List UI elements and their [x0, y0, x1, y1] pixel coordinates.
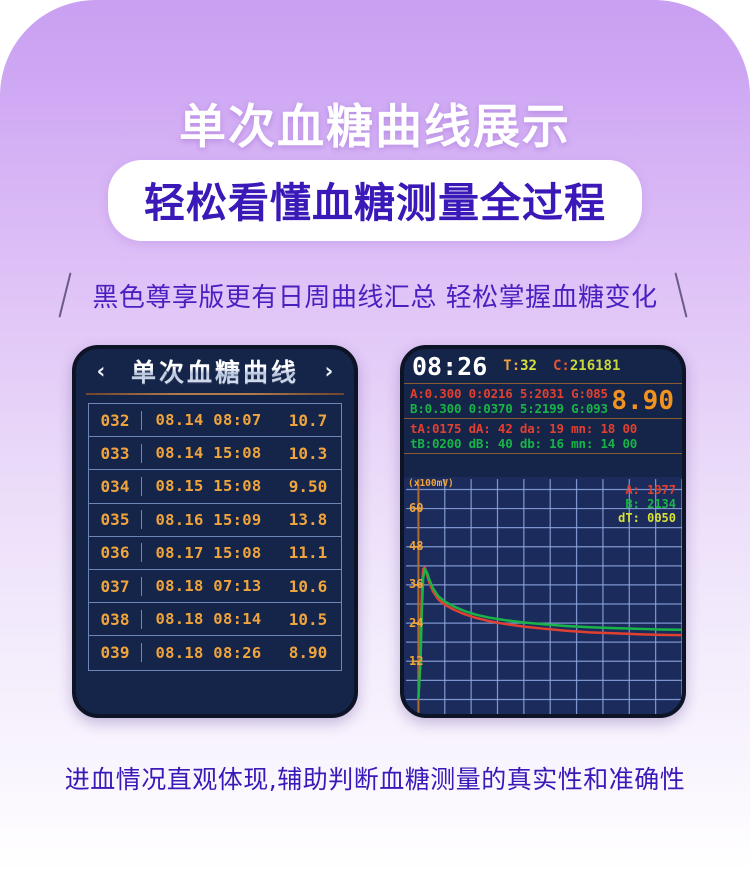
glucose-value: 8.90 [611, 388, 674, 414]
row-datetime: 08.14 08:07 [142, 411, 275, 429]
legend-value: 1977 [647, 483, 676, 497]
subtitle-pill: 轻松看懂血糖测量全过程 [108, 160, 642, 241]
row-value: 10.7 [275, 411, 341, 430]
table-row[interactable]: 03208.14 08:0710.7 [89, 404, 341, 437]
row-datetime: 08.18 08:14 [142, 610, 275, 628]
records-navbar: ‹ 单次血糖曲线 › [76, 349, 354, 393]
row-datetime: 08.14 15:08 [142, 444, 275, 462]
table-row[interactable]: 03508.16 15:0913.8 [89, 504, 341, 537]
y-tick-label: 48 [409, 539, 423, 553]
row-datetime: 08.18 07:13 [142, 577, 275, 595]
row-id: 032 [89, 411, 142, 430]
row-id: 036 [89, 543, 142, 562]
legend-item-a: A: 1977 [618, 483, 676, 497]
clock-label: 08:26 [412, 354, 487, 379]
promo-page: 单次血糖曲线展示 轻松看懂血糖测量全过程 黑色尊享版更有日周曲线汇总 轻松掌握血… [0, 0, 750, 870]
right-slash-icon [672, 272, 694, 318]
tagline-row: 黑色尊享版更有日周曲线汇总 轻松掌握血糖变化 [0, 272, 750, 318]
row-datetime: 08.17 15:08 [142, 544, 275, 562]
counter-readout: C:216181 [553, 358, 620, 374]
device-screen-records: ‹ 单次血糖曲线 › 03208.14 08:0710.703308.14 15… [72, 345, 358, 718]
channel-band: A:0.300 0:0216 5:2031 G:085 B:0.300 0:03… [404, 383, 682, 419]
row-value: 10.3 [275, 444, 341, 463]
records-table: 03208.14 08:0710.703308.14 15:0810.30340… [88, 403, 342, 671]
row-id: 034 [89, 477, 142, 496]
navbar-divider [86, 393, 344, 395]
legend-key: A: [625, 483, 639, 497]
row-datetime: 08.18 08:26 [142, 644, 275, 662]
table-row[interactable]: 03408.15 15:089.50 [89, 470, 341, 503]
legend-key: dT: [618, 511, 640, 525]
row-value: 11.1 [275, 543, 341, 562]
row-id: 037 [89, 577, 142, 596]
row-value: 13.8 [275, 510, 341, 529]
plot-legend: A: 1977B: 2134dT: 0050 [618, 483, 676, 525]
row-value: 9.50 [275, 477, 341, 496]
table-row[interactable]: 03808.18 08:1410.5 [89, 603, 341, 636]
row-datetime: 08.15 15:08 [142, 477, 275, 495]
row-id: 035 [89, 510, 142, 529]
table-row[interactable]: 03908.18 08:268.90 [89, 636, 341, 669]
y-tick-label: 36 [409, 577, 423, 591]
row-value: 8.90 [275, 643, 341, 662]
chevron-left-icon[interactable]: ‹ [90, 361, 112, 382]
left-slash-icon [56, 272, 78, 318]
row-id: 038 [89, 610, 142, 629]
timing-a-line: tA:0175 dA: 42 da: 19 mn: 18 00 [410, 421, 682, 436]
row-id: 039 [89, 643, 142, 662]
table-row[interactable]: 03308.14 15:0810.3 [89, 437, 341, 470]
timing-b-line: tB:0200 dB: 40 db: 16 mn: 14 00 [410, 436, 682, 451]
temperature-readout: T:32 [503, 358, 537, 374]
y-tick-label: 60 [409, 501, 423, 515]
row-datetime: 08.16 15:09 [142, 511, 275, 529]
legend-value: 2134 [647, 497, 676, 511]
page-title: 单次血糖曲线展示 [0, 88, 750, 157]
table-row[interactable]: 03608.17 15:0811.1 [89, 537, 341, 570]
device-screen-graph: 08:26 T:32 C:216181 A:0.300 0:0216 5:203… [400, 345, 686, 718]
legend-value: 0050 [647, 511, 676, 525]
row-value: 10.5 [275, 610, 341, 629]
curve-plot: (x100mV) A: 1977B: 2134dT: 0050 60483624… [404, 477, 682, 714]
y-tick-label: 12 [409, 654, 423, 668]
y-tick-label: 24 [409, 616, 423, 630]
chevron-right-icon[interactable]: › [318, 361, 340, 382]
footer-caption: 进血情况直观体现,辅助判断血糖测量的真实性和准确性 [0, 760, 750, 796]
row-value: 10.6 [275, 577, 341, 596]
legend-item-b: B: 2134 [618, 497, 676, 511]
subtitle-pill-label: 轻松看懂血糖测量全过程 [144, 179, 606, 227]
tagline-label: 黑色尊享版更有日周曲线汇总 轻松掌握血糖变化 [92, 277, 657, 314]
legend-item-dt: dT: 0050 [618, 511, 676, 525]
graph-header: 08:26 T:32 C:216181 [404, 349, 682, 383]
timing-band: tA:0175 dA: 42 da: 19 mn: 18 00 tB:0200 … [404, 419, 682, 454]
row-id: 033 [89, 444, 142, 463]
table-row[interactable]: 03708.18 07:1310.6 [89, 570, 341, 603]
unit-label: (x100mV) [408, 478, 454, 489]
legend-key: B: [625, 497, 639, 511]
records-title: 单次血糖曲线 [131, 353, 299, 389]
